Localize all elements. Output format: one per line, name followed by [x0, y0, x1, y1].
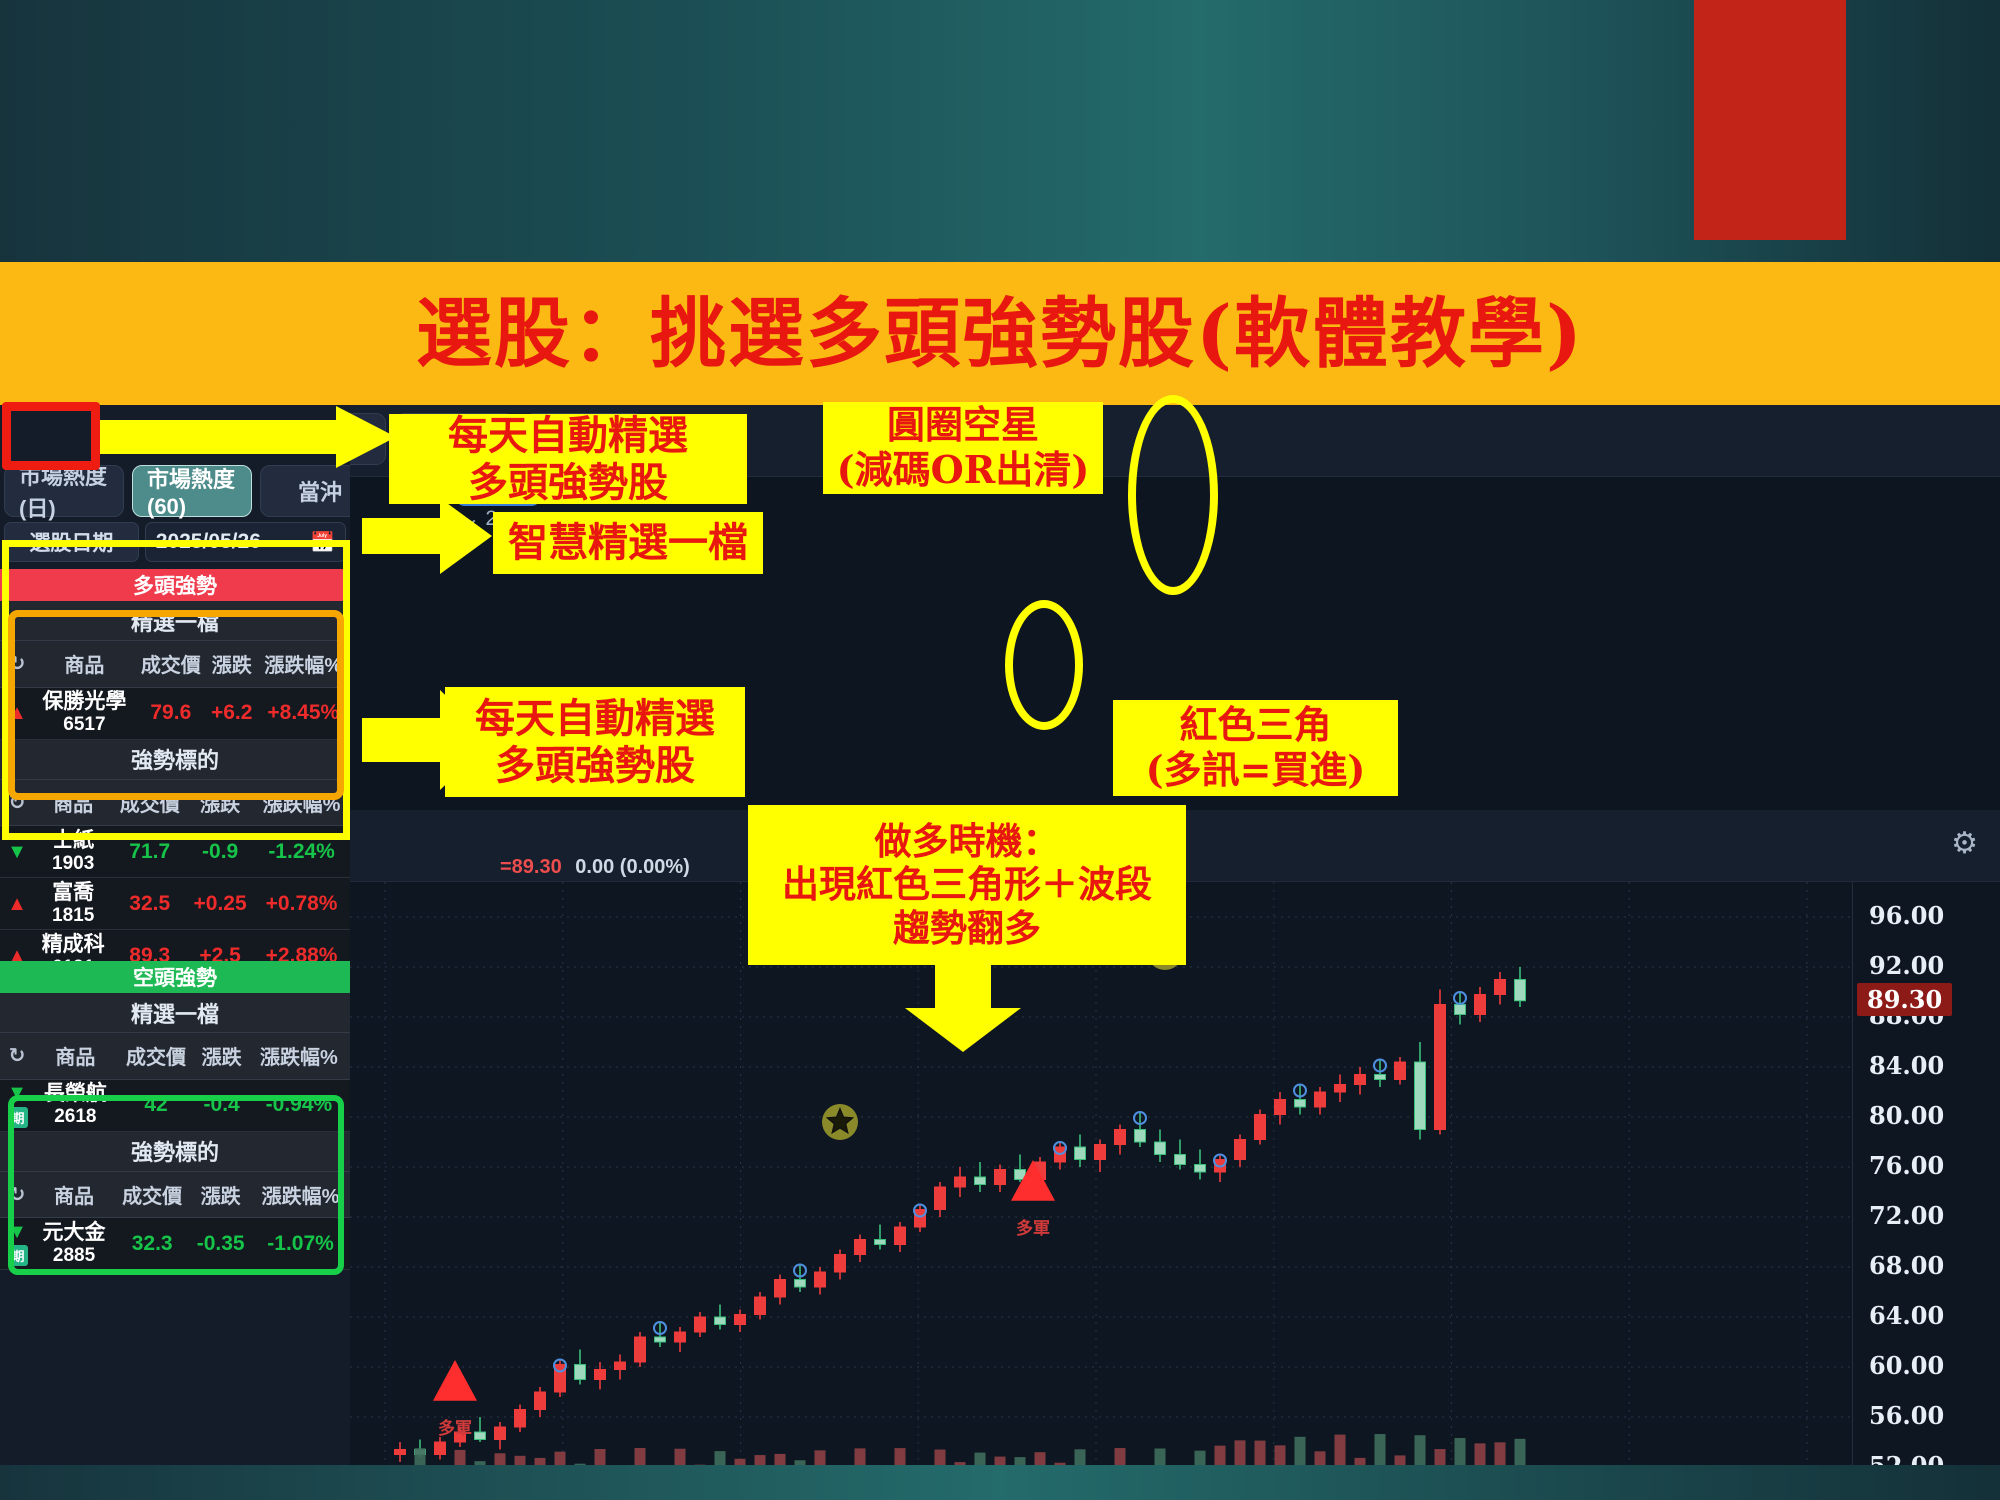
column-header-2[interactable]: 漲跌: [195, 1033, 247, 1079]
direction-indicator: ▼期: [0, 1218, 34, 1270]
column-header-0[interactable]: 商品: [34, 641, 135, 687]
chart-quote: =89.30 0.00 (0.00%): [500, 856, 690, 879]
column-header-0[interactable]: 商品: [34, 780, 112, 826]
arrow-to-featured-note: [362, 498, 492, 574]
column-header-0[interactable]: 商品: [34, 1033, 117, 1079]
chart-quote-value: =89.30: [500, 856, 562, 878]
table-header-row: ↻商品成交價漲跌漲跌幅%: [0, 780, 350, 826]
note-auto-pick-top: 每天自動精選 多頭強勢股: [389, 414, 747, 504]
pct-cell: -1.07%: [251, 1218, 350, 1270]
svg-text:多軍: 多軍: [438, 1418, 472, 1438]
pct-cell: +0.78%: [253, 878, 350, 930]
price-tick: 76.00: [1869, 1151, 1944, 1180]
column-header-2[interactable]: 漲跌: [207, 641, 257, 687]
column-header-2[interactable]: 漲跌: [190, 1172, 251, 1218]
svg-text:多軍: 多軍: [1016, 1218, 1050, 1238]
tab-market-heat-60[interactable]: 市場熱度(60): [132, 465, 252, 517]
price-cell: 71.7: [112, 826, 187, 878]
long-strong-table[interactable]: ↻商品成交價漲跌漲跌幅% ▼士紙190371.7-0.9-1.24%▲富喬181…: [0, 780, 350, 983]
price-axis[interactable]: 96.0092.0088.0084.0080.0076.0072.0068.00…: [1852, 882, 2000, 1500]
short-section: 空頭強勢 精選一檔 ↻商品成交價漲跌漲跌幅% ▼期長榮航261842-0.4-0…: [0, 961, 350, 1270]
long-section: 多頭強勢 精選一檔 ↻商品成交價漲跌漲跌幅% ▲保勝光學651779.6+6.2…: [0, 569, 350, 982]
arrow-down-to-indicator: [905, 960, 1021, 1052]
direction-indicator: ▼: [0, 826, 34, 878]
note-smart-featured: 智慧精選一檔: [493, 512, 763, 574]
change-cell: +0.25: [187, 878, 253, 930]
table-header-row: ↻商品成交價漲跌漲跌幅%: [0, 1033, 350, 1079]
note-red-triangle: 紅色三角 (多訊=買進): [1113, 700, 1398, 796]
price-cell: 32.5: [112, 878, 187, 930]
chart-quote-change: 0.00 (0.00%): [575, 856, 690, 878]
column-header-3[interactable]: 漲跌幅%: [251, 1172, 350, 1218]
table-header-row: ↻商品成交價漲跌漲跌幅%: [0, 1172, 350, 1218]
note-line: 做多時機：: [758, 820, 1176, 864]
current-price-badge: 89.30: [1857, 983, 1952, 1016]
note-line: (多訊=買進): [1123, 748, 1388, 793]
note-circle-star: 圓圈空星 (減碼OR出清): [823, 402, 1103, 494]
table-header-row: ↻商品成交價漲跌漲跌幅%: [0, 641, 350, 687]
price-cell: 79.6: [135, 687, 207, 739]
tab-market-heat-day[interactable]: 市場熱度(日): [4, 465, 124, 517]
note-auto-pick-mid: 每天自動精選 多頭強勢股: [445, 687, 745, 797]
note-long-timing: 做多時機： 出現紅色三角形＋波段 趨勢翻多: [748, 805, 1186, 965]
column-header-1[interactable]: 成交價: [112, 780, 187, 826]
note-line: (減碼OR出清): [833, 448, 1093, 493]
refresh-icon[interactable]: ↻: [0, 1172, 34, 1218]
short-star-marker: [822, 1104, 858, 1140]
direction-indicator: ▼期: [0, 1079, 34, 1131]
pct-cell: -0.94%: [248, 1079, 350, 1131]
gear-icon[interactable]: ⚙: [1951, 826, 1978, 861]
table-row[interactable]: ▼期長榮航261842-0.4-0.94%: [0, 1079, 350, 1131]
column-header-1[interactable]: 成交價: [117, 1033, 196, 1079]
column-header-3[interactable]: 漲跌幅%: [248, 1033, 350, 1079]
price-tick: 64.00: [1869, 1301, 1944, 1330]
table-row[interactable]: ▲富喬181532.5+0.25+0.78%: [0, 878, 350, 930]
tab-day-trade[interactable]: 當沖: [260, 465, 350, 517]
price-tick: 92.00: [1869, 951, 1944, 980]
column-header-0[interactable]: 商品: [34, 1172, 114, 1218]
short-featured-table[interactable]: ↻商品成交價漲跌漲跌幅% ▼期長榮航261842-0.4-0.94%: [0, 1033, 350, 1132]
table-body: ▲保勝光學651779.6+6.2+8.45%: [0, 687, 350, 739]
note-line: 多頭強勢股: [455, 742, 735, 789]
long-featured-table[interactable]: ↻商品成交價漲跌漲跌幅% ▲保勝光學651779.6+6.2+8.45%: [0, 641, 350, 740]
pick-date-bar: 選股日期 2025/05/26 📅: [4, 522, 346, 562]
refresh-icon[interactable]: ↻: [0, 1033, 34, 1079]
column-header-2[interactable]: 漲跌: [187, 780, 253, 826]
pick-date-value: 2025/05/26: [156, 530, 261, 554]
table-body: ▼士紙190371.7-0.9-1.24%▲富喬181532.5+0.25+0.…: [0, 826, 350, 982]
pick-date-field[interactable]: 2025/05/26 📅: [145, 522, 346, 562]
note-line: 每天自動精選: [455, 695, 735, 742]
table-row[interactable]: ▼期元大金288532.3-0.35-1.07%: [0, 1218, 350, 1270]
stock-name-cell[interactable]: 保勝光學6517: [34, 687, 135, 739]
futures-badge: 期: [8, 1245, 27, 1266]
note-line: 趨勢翻多: [758, 907, 1176, 951]
price-tick: 60.00: [1869, 1351, 1944, 1380]
change-cell: -0.4: [195, 1079, 247, 1131]
red-decorative-block: [1694, 0, 1846, 240]
long-strong-title: 強勢標的: [0, 740, 350, 780]
price-cell: 42: [117, 1079, 196, 1131]
table-row[interactable]: ▲保勝光學651779.6+6.2+8.45%: [0, 687, 350, 739]
column-header-3[interactable]: 漲跌幅%: [253, 780, 350, 826]
price-tick: 72.00: [1869, 1201, 1944, 1230]
page-title: 選股：挑選多頭強勢股(軟體教學): [0, 272, 2000, 382]
stock-name-cell[interactable]: 富喬1815: [34, 878, 112, 930]
note-line: 多頭強勢股: [399, 459, 737, 506]
long-signal-triangle: 多軍: [433, 1360, 477, 1438]
arrow-to-smart-pick: [96, 406, 396, 468]
market-heat-tabs: 市場熱度(日) 市場熱度(60) 當沖: [4, 465, 350, 517]
column-header-3[interactable]: 漲跌幅%: [257, 641, 350, 687]
stock-name-cell[interactable]: 長榮航2618: [34, 1079, 117, 1131]
bottom-teal-banner: [0, 1465, 2000, 1500]
table-body: ▼期長榮航261842-0.4-0.94%: [0, 1079, 350, 1131]
ellipse-highlight-star-top: [1128, 395, 1218, 595]
column-header-1[interactable]: 成交價: [114, 1172, 190, 1218]
note-line: 圓圈空星: [833, 403, 1093, 448]
change-cell: -0.35: [190, 1218, 251, 1270]
pct-cell: -1.24%: [253, 826, 350, 878]
column-header-1[interactable]: 成交價: [135, 641, 207, 687]
note-line: 出現紅色三角形＋波段: [758, 863, 1176, 907]
table-row[interactable]: ▼士紙190371.7-0.9-1.24%: [0, 826, 350, 878]
table-body: ▼期元大金288532.3-0.35-1.07%: [0, 1218, 350, 1270]
price-tick: 56.00: [1869, 1401, 1944, 1430]
price-tick: 84.00: [1869, 1051, 1944, 1080]
pct-cell: +8.45%: [257, 687, 350, 739]
short-featured-title: 精選一檔: [0, 993, 350, 1033]
price-tick: 96.00: [1869, 901, 1944, 930]
price-tick: 80.00: [1869, 1101, 1944, 1130]
refresh-icon[interactable]: ↻: [0, 780, 34, 826]
long-section-title: 多頭強勢: [0, 569, 350, 601]
note-line: 紅色三角: [1123, 703, 1388, 748]
price-cell: 32.3: [114, 1218, 190, 1270]
long-featured-title: 精選一檔: [0, 601, 350, 641]
candlestick-plot[interactable]: 多軍多軍: [350, 882, 1852, 1500]
short-strong-table[interactable]: ↻商品成交價漲跌漲跌幅% ▼期元大金288532.3-0.35-1.07%: [0, 1172, 350, 1271]
stock-picker-sidebar[interactable]: 市場熱度(日) 市場熱度(60) 當沖 選股日期 2025/05/26 📅 多頭…: [0, 405, 350, 1465]
futures-badge: 期: [8, 1107, 27, 1128]
pick-date-label: 選股日期: [4, 522, 139, 562]
stock-name-cell[interactable]: 元大金2885: [34, 1218, 114, 1270]
refresh-icon[interactable]: ↻: [0, 641, 34, 687]
price-tick: 68.00: [1869, 1251, 1944, 1280]
change-cell: -0.9: [187, 826, 253, 878]
chart-gridlines: [350, 882, 1852, 1500]
short-section-title: 空頭強勢: [0, 961, 350, 993]
direction-indicator: ▲: [0, 687, 34, 739]
smart-pick-highlight-box: [2, 402, 100, 470]
note-line: 每天自動精選: [399, 412, 737, 459]
calendar-icon[interactable]: 📅: [310, 530, 335, 555]
direction-indicator: ▲: [0, 878, 34, 930]
ellipse-highlight-signal: [1005, 600, 1083, 730]
stock-name-cell[interactable]: 士紙1903: [34, 826, 112, 878]
change-cell: +6.2: [207, 687, 257, 739]
short-strong-title: 強勢標的: [0, 1132, 350, 1172]
